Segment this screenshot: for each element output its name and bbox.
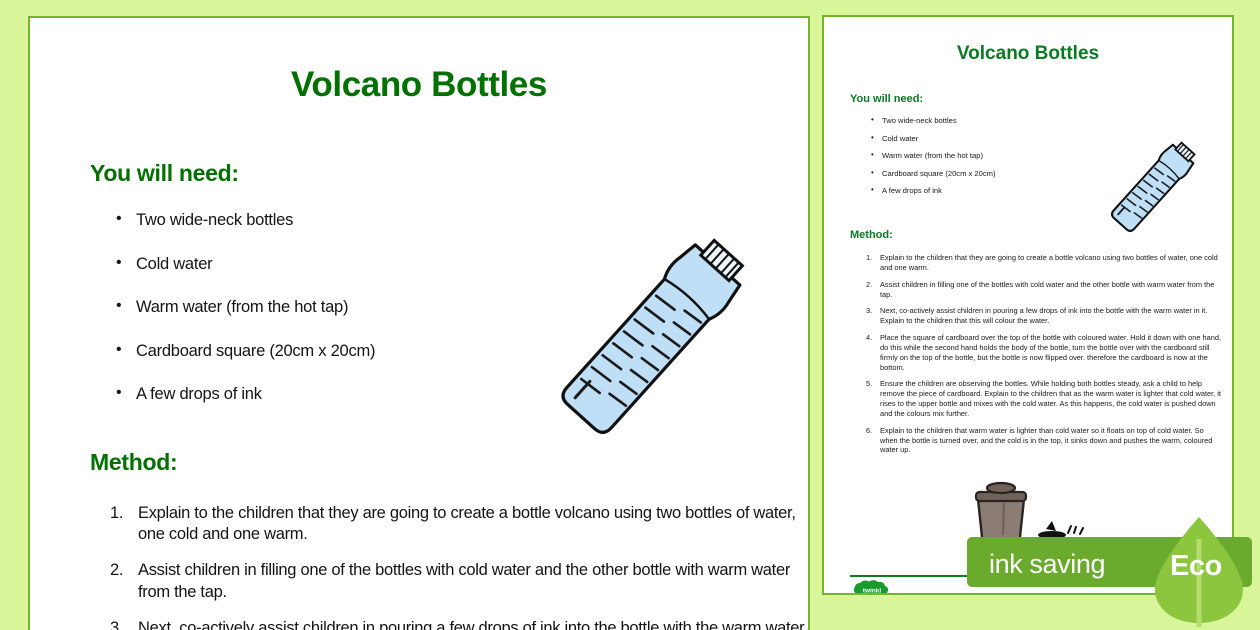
eco-badge-leaf-label: Eco (1170, 550, 1222, 583)
method-step: 6. Explain to the children that warm wat… (880, 426, 1222, 456)
ink-saving-eco-badge: ink saving Eco (967, 531, 1260, 593)
step-number: 1. (110, 503, 123, 525)
method-step: 1. Explain to the children that they are… (880, 253, 1222, 273)
water-bottle-illustration (500, 215, 800, 465)
thumbnail-section-heading-you-will-need: You will need: (850, 93, 1206, 105)
step-text: Ensure the children are observing the bo… (880, 379, 1221, 418)
twinkl-logo[interactable]: twinkl (850, 579, 894, 595)
document-preview-main[interactable]: Volcano Bottles You will need: Two wide-… (28, 16, 810, 630)
section-heading-you-will-need: You will need: (90, 160, 762, 187)
step-text: Place the square of cardboard over the t… (880, 333, 1221, 372)
water-bottle-illustration (1082, 131, 1222, 246)
step-text: Next, co-actively assist children in pou… (138, 619, 804, 630)
document-body: Volcano Bottles You will need: Two wide-… (30, 65, 808, 630)
step-number: 2. (110, 560, 123, 582)
step-number: 2. (866, 280, 872, 290)
step-text: Assist children in filling one of the bo… (138, 561, 790, 601)
step-text: Explain to the children that they are go… (138, 504, 796, 544)
step-number: 4. (866, 333, 872, 343)
thumbnail-page-title: Volcano Bottles (850, 43, 1206, 65)
method-step: 4. Place the square of cardboard over th… (880, 333, 1222, 372)
method-step: 3. Next, co-actively assist children in … (138, 618, 810, 630)
method-step: 5. Ensure the children are observing the… (880, 379, 1222, 418)
step-number: 5. (866, 379, 872, 389)
method-steps-list: 1. Explain to the children that they are… (138, 503, 810, 630)
step-text: Explain to the children that they are go… (880, 253, 1218, 272)
method-step: 3. Next, co-actively assist children in … (880, 306, 1222, 326)
step-number: 6. (866, 426, 872, 436)
list-item: Two wide-neck bottles (882, 117, 1206, 125)
method-step: 1. Explain to the children that they are… (138, 503, 810, 547)
document-thumbnail-page[interactable]: Volcano Bottles You will need: Two wide-… (822, 15, 1234, 595)
step-number: 3. (866, 306, 872, 316)
step-number: 3. (110, 618, 123, 630)
method-step: 2. Assist children in filling one of the… (138, 560, 810, 604)
page-title: Volcano Bottles (76, 65, 762, 105)
step-text: Next, co-actively assist children in pou… (880, 306, 1207, 325)
thumbnail-method-steps-list: 1. Explain to the children that they are… (880, 253, 1222, 455)
twinkl-logo-text: twinkl (863, 588, 882, 595)
method-step: 2. Assist children in filling one of the… (880, 280, 1222, 300)
screenshot-stage: Volcano Bottles You will need: Two wide-… (0, 0, 1260, 630)
eco-badge-label: ink saving (989, 549, 1105, 580)
step-number: 1. (866, 253, 872, 263)
step-text: Assist children in filling one of the bo… (880, 280, 1214, 299)
step-text: Explain to the children that warm water … (880, 426, 1212, 455)
